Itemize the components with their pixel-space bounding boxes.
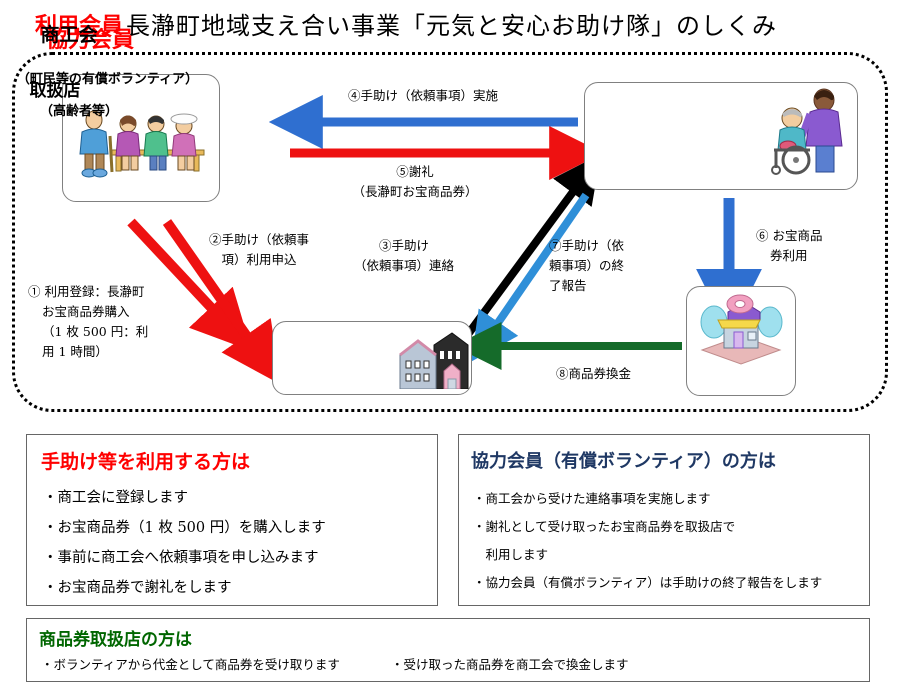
flow-label-6: ⑥ お宝商品 券利用	[756, 226, 822, 266]
flow-label-4: ④手助け（依頼事項）実施	[308, 86, 538, 106]
flow-label-1: ① 利用登録：長瀞町 お宝商品券購入 （1 枚 500 円：利 用 1 時間）	[28, 282, 148, 362]
list-item: ・お宝商品券で謝礼をします	[43, 573, 326, 603]
list-item: ・ボランティアから代金として商品券を受け取ります	[41, 655, 391, 675]
flow-label-7: ⑦手助け（依 頼事項）の終 了報告	[549, 236, 624, 296]
info-box-for-stores-heading: 商品券取扱店の方は	[39, 625, 192, 650]
list-item: ・受け取った商品券を商工会で換金します	[391, 655, 629, 675]
info-box-for-users-heading: 手助け等を利用する方は	[41, 447, 250, 474]
list-item: ・事前に商工会へ依頼事項を申し込みます	[43, 543, 326, 573]
list-item: ・商工会に登録します	[43, 483, 326, 513]
list-item: ・お宝商品券（1 枚 500 円）を購入します	[43, 513, 326, 543]
info-box-for-stores: 商品券取扱店の方は ・ボランティアから代金として商品券を受け取ります ・受け取っ…	[26, 618, 870, 682]
node-user-member-subtitle: （高齢者等）	[0, 100, 158, 119]
list-item: 利用します	[473, 541, 822, 569]
flow-label-5: ⑤謝礼 （長瀞町お宝商品券）	[300, 162, 530, 202]
info-box-for-users: 手助け等を利用する方は ・商工会に登録します ・お宝商品券（1 枚 500 円）…	[26, 434, 438, 606]
info-box-for-users-list: ・商工会に登録します ・お宝商品券（1 枚 500 円）を購入します ・事前に商…	[43, 483, 326, 603]
info-box-for-supporters-heading: 協力会員（有償ボランティア）の方は	[471, 447, 776, 473]
diagram-page: 長瀞町地域支え合い事業「元気と安心お助け隊」のしくみ	[0, 0, 903, 696]
list-item: ・商工会から受けた連絡事項を実施します	[473, 485, 822, 513]
node-chamber-of-commerce-title: 商工会	[14, 20, 124, 47]
list-item: ・協力会員（有償ボランティア）は手助けの終了報告をします	[473, 569, 822, 597]
flow-label-3: ③手助け （依頼事項）連絡	[344, 236, 464, 276]
flow-label-2: ②手助け（依頼事 項）利用申込	[196, 230, 322, 270]
info-box-for-stores-list: ・ボランティアから代金として商品券を受け取ります ・受け取った商品券を商工会で換…	[41, 655, 629, 675]
info-box-for-supporters: 協力会員（有償ボランティア）の方は ・商工会から受けた連絡事項を実施します ・謝…	[458, 434, 870, 606]
info-box-for-supporters-list: ・商工会から受けた連絡事項を実施します ・謝礼として受け取ったお宝商品券を取扱店…	[473, 485, 822, 597]
wheelchair-helper-illustration	[766, 84, 854, 176]
list-item: ・謝礼として受け取ったお宝商品券を取扱店で	[473, 513, 822, 541]
flow-label-8: ⑧商品券換金	[556, 364, 631, 384]
building-illustration	[398, 331, 470, 389]
node-participating-store-title: 取扱店	[0, 76, 110, 101]
shop-illustration	[694, 292, 788, 366]
